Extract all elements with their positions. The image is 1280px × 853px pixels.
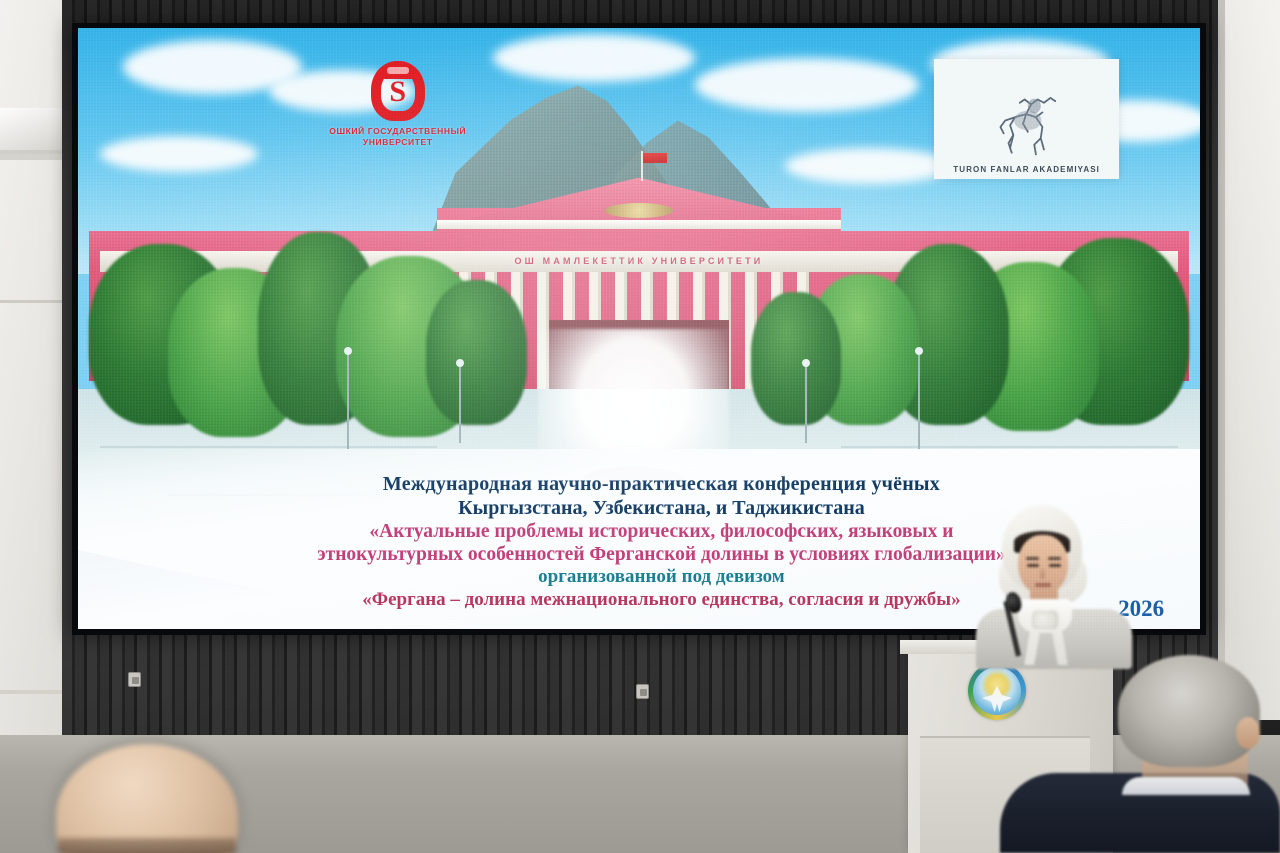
kyrgyzstan-flag-icon [643,153,667,164]
osu-caption-line-2: УНИВЕРСИТЕТ [329,137,466,148]
cloud [493,34,695,82]
osh-state-university-logo: S ОШКИЙ ГОСУДАРСТВЕННЫЙ УНИВЕРСИТЕТ [330,61,465,187]
tree [751,292,841,424]
audience-man-shirt-collar [1122,777,1250,795]
wall-seam-lower [0,690,62,694]
speaker-brooch [1032,611,1058,629]
audience-man-ear [1236,717,1260,749]
speaker-eyebrow-right [1048,557,1061,560]
speaker-eyebrow-left [1026,557,1039,560]
speaker-mouth [1035,583,1051,587]
horseman-icon [967,85,1085,166]
cloud [100,136,257,172]
cloud [785,148,953,184]
right-wall-panel [1218,0,1280,720]
speaker-eye-left [1027,564,1039,567]
pediment-cornice [437,220,841,230]
street-lamp [347,353,349,449]
pediment-emblem-icon [605,203,672,218]
cloud [695,58,919,112]
left-wall-panel [0,0,62,760]
turon-academy-logo: TURON FANLAR AKADEMIYASI [934,59,1119,179]
osu-logo-caption: ОШКИЙ ГОСУДАРСТВЕННЫЙ УНИВЕРСИТЕТ [329,126,466,147]
speaker-eye-right [1049,564,1061,567]
turon-logo-caption: TURON FANLAR AKADEMIYASI [953,165,1100,174]
speaker-person [966,505,1142,665]
wall-socket [128,672,141,687]
audience-man-front-right [1000,655,1280,853]
headline-line-1: Международная научно-практическая конфер… [168,473,1155,497]
tree [426,280,527,424]
speaker-nose [1040,568,1045,579]
wall-socket [636,684,649,699]
osu-caption-line-1: ОШКИЙ ГОСУДАРСТВЕННЫЙ [329,126,466,137]
osu-oval-emblem-icon: S [371,61,425,121]
wall-seam [0,300,62,303]
street-lamp [805,365,807,443]
conference-hall-photo: ОШ МАМЛЕКЕТТИК УНИВЕРСИТЕТИ [0,0,1280,853]
audience-head-hair-fringe [58,838,236,853]
street-lamp [459,365,461,443]
audience-man-hair [1118,655,1260,767]
osu-letter-s: S [371,77,425,107]
street-lamp [918,353,920,449]
